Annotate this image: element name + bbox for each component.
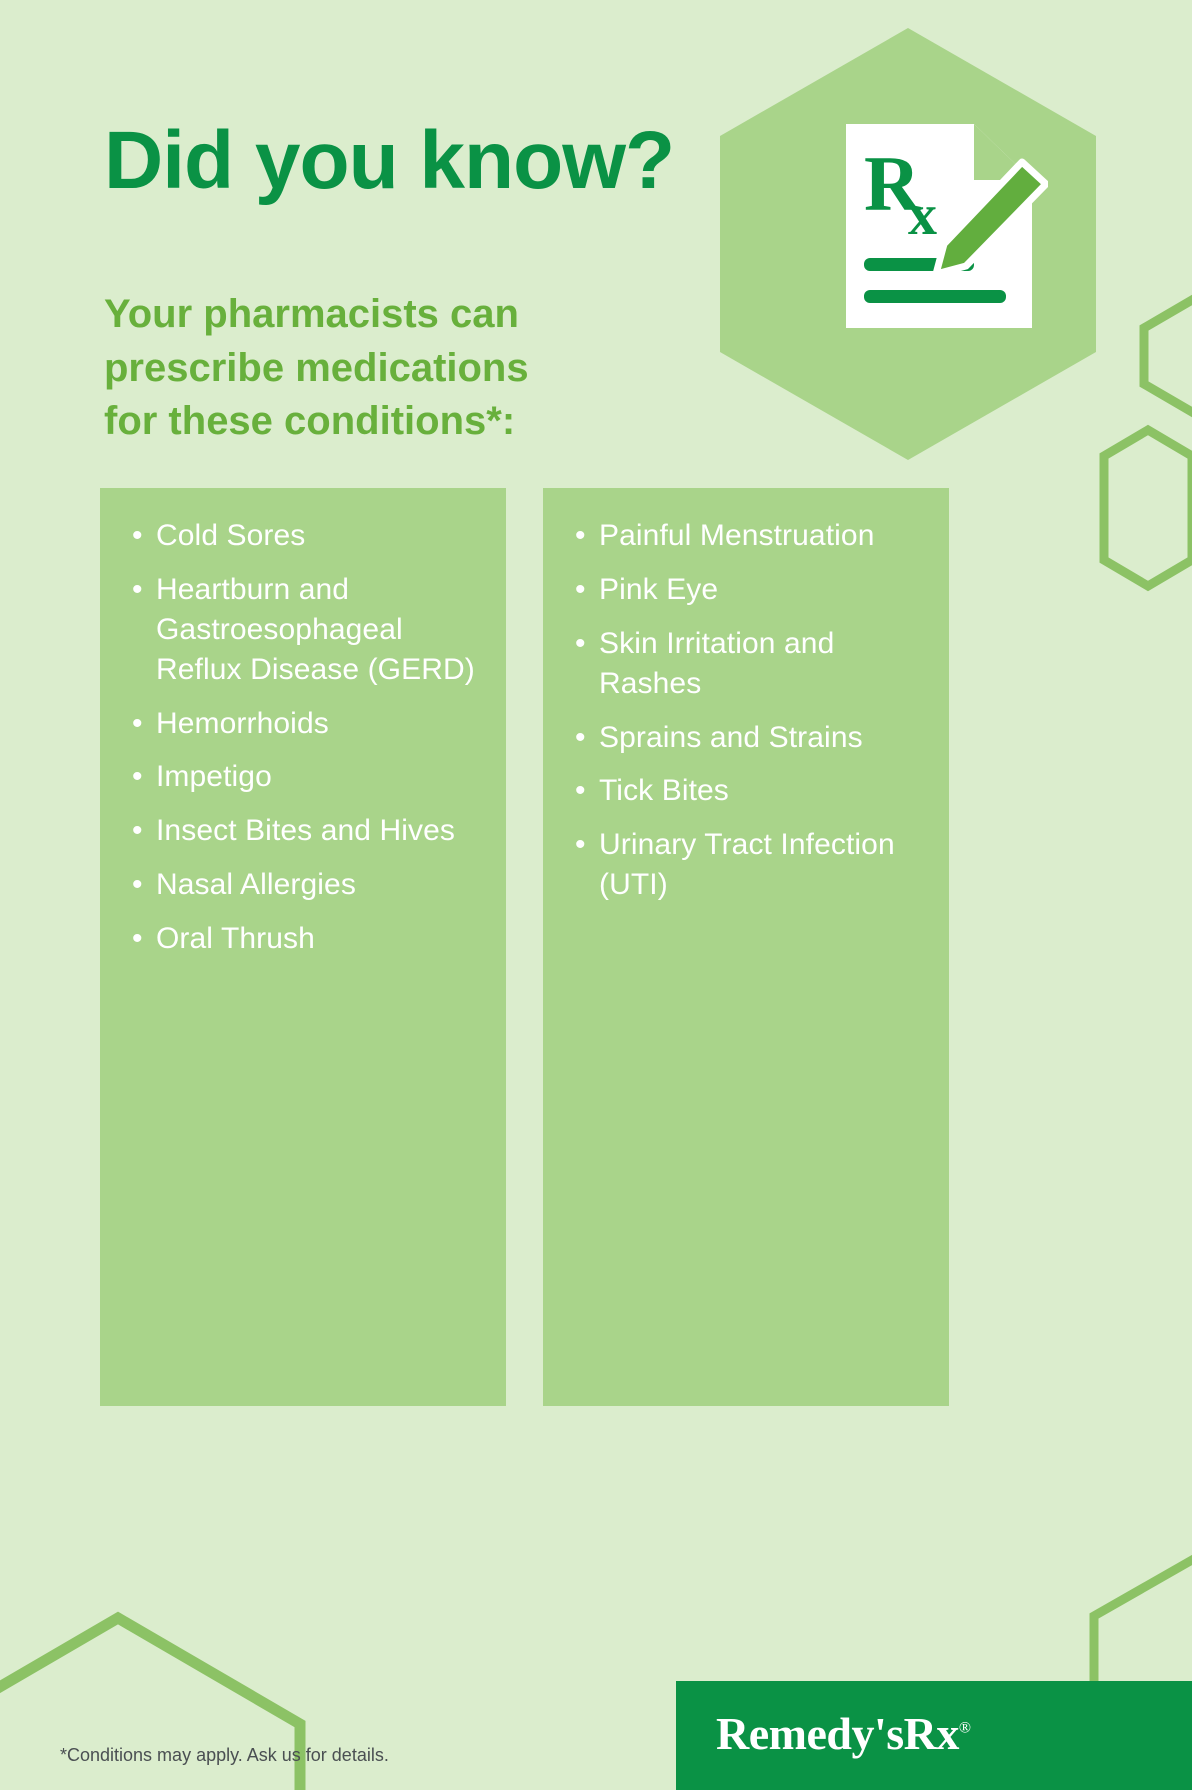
list-item-label: Heartburn and Gastroesophageal Reflux Di… [156,573,475,686]
page-title: Did you know? [104,118,674,204]
list-item: • Heartburn and Gastroesophageal Reflux … [122,570,484,690]
list-item: • Sprains and Strains [565,718,927,758]
prescription-document-icon: R x [836,118,1048,334]
list-item-label: Cold Sores [156,519,305,552]
bullet-icon: • [132,919,143,959]
list-item: • Pink Eye [565,570,927,610]
list-item-label: Insect Bites and Hives [156,814,455,847]
bullet-icon: • [132,704,143,744]
list-item: • Cold Sores [122,516,484,556]
bullet-icon: • [575,624,586,664]
list-item: • Impetigo [122,757,484,797]
list-item-label: Hemorrhoids [156,707,329,740]
conditions-list-right: • Painful Menstruation • Pink Eye • Skin… [543,488,949,905]
list-item: • Tick Bites [565,771,927,811]
list-item-label: Impetigo [156,760,272,793]
list-item: • Insect Bites and Hives [122,811,484,851]
bullet-icon: • [132,865,143,905]
bullet-icon: • [575,718,586,758]
list-item-label: Sprains and Strains [599,721,863,754]
registered-trademark-icon: ® [959,1720,971,1737]
subheading-line-3: for these conditions*: [104,395,529,449]
list-item: • Urinary Tract Infection (UTI) [565,825,927,905]
bullet-icon: • [132,757,143,797]
subheading-line-2: prescribe medications [104,342,529,396]
list-item: • Oral Thrush [122,919,484,959]
list-item-label: Oral Thrush [156,922,315,955]
list-item-label: Skin Irritation and Rashes [599,627,834,700]
bullet-icon: • [575,516,586,556]
list-item-label: Painful Menstruation [599,519,875,552]
list-item-label: Nasal Allergies [156,868,356,901]
document-line-2 [864,290,1006,303]
hexagon-shape-filled-right [1104,430,1192,586]
list-item: • Hemorrhoids [122,704,484,744]
conditions-panel-right: • Painful Menstruation • Pink Eye • Skin… [543,488,949,1406]
list-item-label: Urinary Tract Infection (UTI) [599,828,895,901]
conditions-list-left: • Cold Sores • Heartburn and Gastroesoph… [100,488,506,959]
hexagon-shape-outline-right [1144,300,1192,412]
subheading-line-1: Your pharmacists can [104,288,529,342]
rx-symbol-x-icon: x [908,182,937,247]
conditions-panel-left: • Cold Sores • Heartburn and Gastroesoph… [100,488,506,1406]
bullet-icon: • [132,516,143,556]
brand-name: Remedy'sRx [716,1708,959,1759]
bullet-icon: • [132,811,143,851]
bullet-icon: • [132,570,143,610]
footnote-disclaimer: *Conditions may apply. Ask us for detail… [60,1745,389,1766]
list-item: • Skin Irritation and Rashes [565,624,927,704]
list-item-label: Pink Eye [599,573,718,606]
list-item: • Painful Menstruation [565,516,927,556]
bullet-icon: • [575,825,586,865]
bullet-icon: • [575,570,586,610]
subheading: Your pharmacists can prescribe medicatio… [104,288,529,449]
brand-logo-block: Remedy'sRx® [676,1681,1192,1790]
bullet-icon: • [575,771,586,811]
list-item-label: Tick Bites [599,774,729,807]
brand-logo-text: Remedy'sRx® [716,1707,971,1760]
list-item: • Nasal Allergies [122,865,484,905]
